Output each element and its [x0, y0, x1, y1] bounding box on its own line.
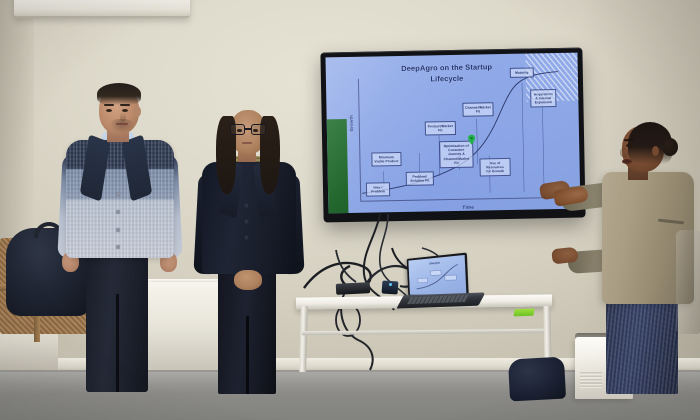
presenter-trousers [606, 294, 678, 394]
laptop-screen[interactable]: Lifecycle [407, 253, 469, 298]
man-standing-left [60, 88, 182, 388]
presenter-mouth-speaking [622, 159, 632, 164]
woman-center-eye [237, 129, 242, 132]
eyeglasses-icon [228, 124, 268, 136]
presenter-eye [626, 144, 632, 147]
man-cardigan-button [116, 192, 120, 196]
chart-annotation: Channel/MarketFit [462, 102, 493, 116]
chart-annotation: Product/MarketFit [425, 121, 456, 135]
eyeglass-bridge [244, 128, 252, 130]
chart-annotation: Idea /Problem [366, 182, 390, 196]
woman-center-trouser-seam [246, 316, 249, 394]
chart-annotation: MinimumViable Product [371, 152, 401, 166]
man-cardigan-button [116, 210, 120, 214]
chart-annotation: Acquisition& InternalExpansion [530, 89, 556, 108]
presenter-blazer-fold [676, 230, 700, 334]
man-hair [97, 83, 141, 105]
presentation-photo: DeepAgro on the Startup Lifecycle Growth… [0, 0, 700, 420]
woman-presenting-right [566, 132, 700, 390]
woman-center-blazer [202, 162, 296, 274]
man-eye [106, 109, 112, 112]
woman-center-eye [253, 129, 258, 132]
man-mouth [116, 123, 128, 125]
man-ear [134, 106, 141, 117]
presenter-ear [652, 146, 659, 156]
presenter-blazer [602, 172, 694, 304]
map-pin-icon [468, 135, 475, 145]
man-cardigan-button [116, 245, 120, 249]
chart-annotation: Optimization ofCustomer Journey &Channel… [439, 141, 474, 169]
man-cardigan-knit-texture [66, 140, 174, 258]
chart-annotation: Maturity [510, 67, 534, 77]
presenter-nose [620, 148, 628, 157]
laptop-slide-mirror: Lifecycle [408, 255, 466, 295]
chart-annotation: Problem/Solution Fit [406, 171, 434, 185]
sticky-note [514, 309, 535, 317]
duffel-bag [508, 357, 566, 402]
man-cardigan-button [116, 228, 120, 232]
presenter-trouser-texture [606, 294, 678, 394]
man-trouser-seam [116, 294, 119, 392]
man-cardigan [66, 140, 174, 258]
woman-center-clasped-hands [234, 270, 262, 290]
adapter-led-indicator [389, 283, 392, 286]
ceiling-duct [14, 0, 190, 18]
chart-annotation: Use of Resourcesfor Growth [479, 158, 510, 177]
presenter-hair-bun [662, 138, 678, 156]
woman-center-mouth [242, 142, 252, 144]
man-moustache [110, 119, 134, 133]
usb-hub [336, 282, 371, 295]
woman-standing-center [196, 108, 304, 392]
